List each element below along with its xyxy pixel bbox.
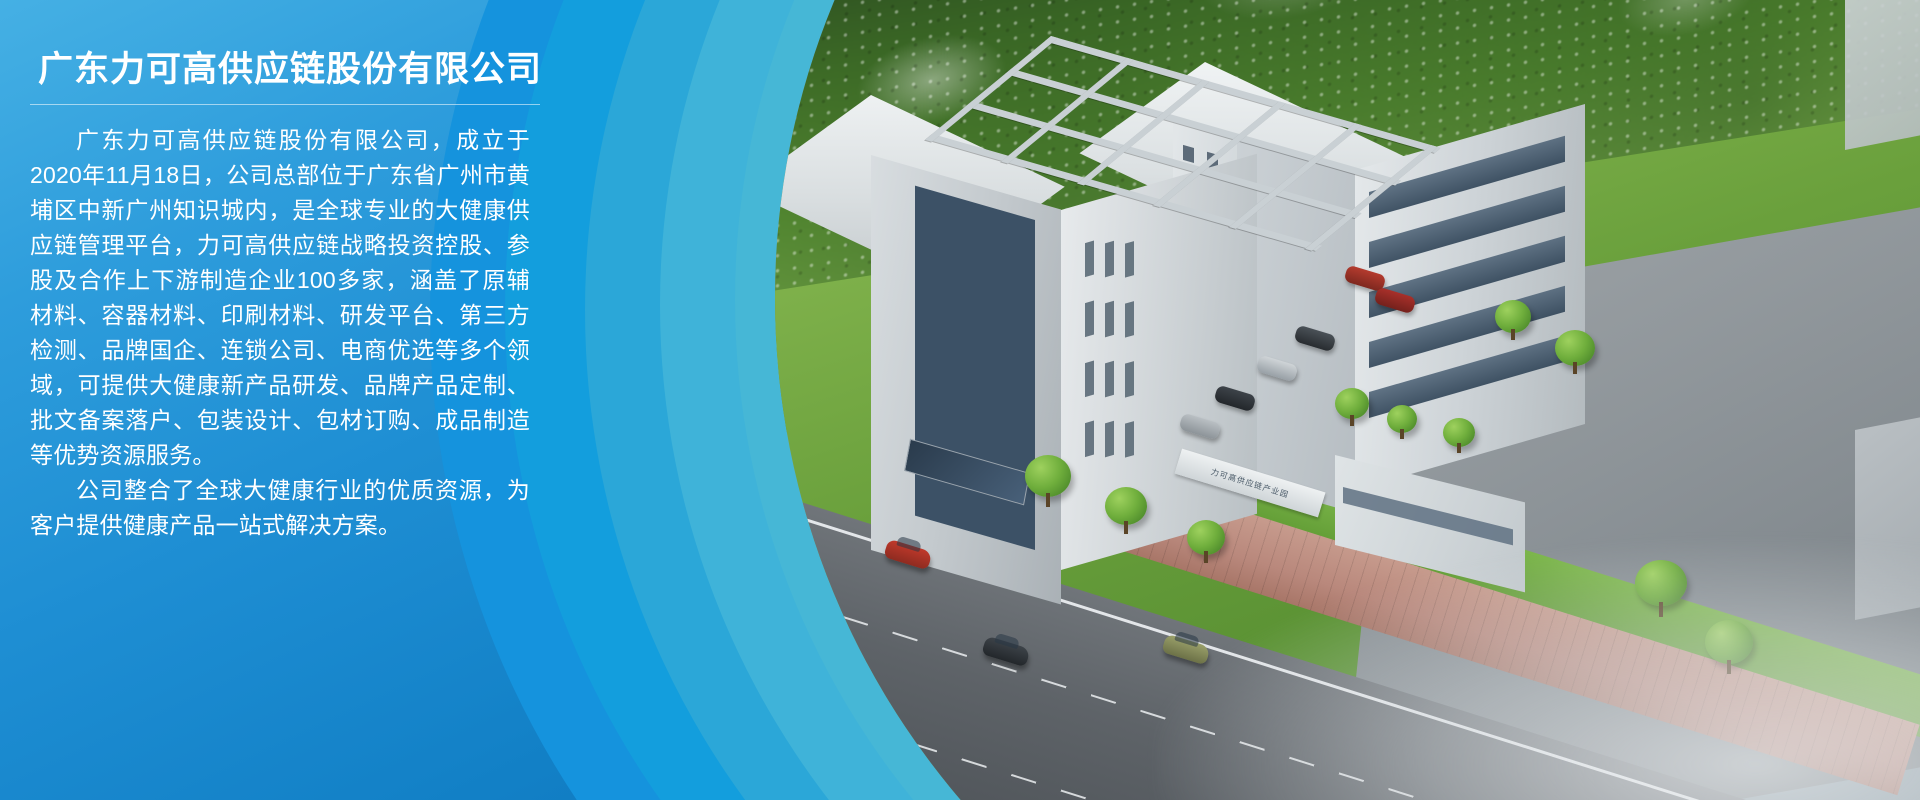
photo-bottom-fade [1155, 540, 1920, 800]
company-profile-banner: 力可高供应链产业园 [0, 0, 1920, 800]
warehouse-shed-rear [1845, 0, 1920, 150]
campus-rendering-photo: 力可高供应链产业园 [775, 0, 1920, 800]
description-paragraph-2: 公司整合了全球大健康行业的优质资源，为客户提供健康产品一站式解决方案。 [30, 473, 530, 543]
page-title: 广东力可高供应链股份有限公司 [30, 0, 530, 104]
company-description: 广东力可高供应链股份有限公司，成立于2020年11月18日，公司总部位于广东省广… [30, 105, 530, 543]
text-column: 广东力可高供应链股份有限公司 广东力可高供应链股份有限公司，成立于2020年11… [0, 0, 560, 543]
description-paragraph-1: 广东力可高供应链股份有限公司，成立于2020年11月18日，公司总部位于广东省广… [30, 123, 530, 473]
